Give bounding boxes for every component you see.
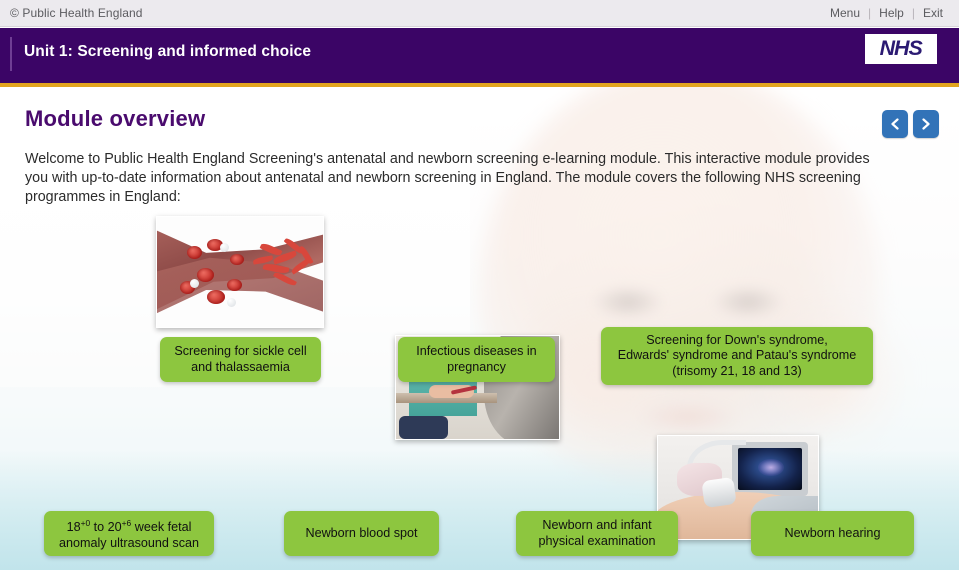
caption-line-1: 18+0 to 20+6 week fetal — [59, 516, 199, 536]
top-utility-bar: © Public Health England Menu | Help | Ex… — [0, 0, 959, 27]
nhs-logo: NHS — [865, 34, 937, 64]
caption-infectious-diseases[interactable]: Infectious diseases in pregnancy — [398, 337, 555, 382]
nhs-logo-text: NHS — [880, 37, 922, 61]
caption-line-1: Infectious diseases in — [416, 344, 536, 360]
help-button[interactable]: Help — [871, 6, 912, 20]
caption-newborn-hearing[interactable]: Newborn hearing — [751, 511, 914, 556]
e-learning-module-page: © Public Health England Menu | Help | Ex… — [0, 0, 959, 570]
previous-button[interactable] — [882, 110, 908, 138]
caption-newborn-blood-spot[interactable]: Newborn blood spot — [284, 511, 439, 556]
caption-line-2: anomaly ultrasound scan — [59, 536, 199, 552]
caption-line-2: Edwards' syndrome and Patau's syndrome — [618, 348, 857, 364]
chevron-right-icon — [920, 117, 932, 131]
page-title: Module overview — [25, 106, 205, 132]
superscript-plus-zero: +0 — [81, 518, 91, 528]
caption-fetal-anomaly-scan[interactable]: 18+0 to 20+6 week fetal anomaly ultrasou… — [44, 511, 214, 556]
unit-header-bar: Unit 1: Screening and informed choice — [0, 28, 959, 80]
chevron-left-icon — [889, 117, 901, 131]
utility-menu: Menu | Help | Exit — [822, 6, 951, 20]
superscript-plus-six: +6 — [122, 518, 132, 528]
caption-line-1: Screening for sickle cell — [174, 344, 306, 360]
unit-title: Unit 1: Screening and informed choice — [24, 43, 311, 61]
caption-line-2: pregnancy — [416, 360, 536, 376]
next-button[interactable] — [913, 110, 939, 138]
intro-paragraph: Welcome to Public Health England Screeni… — [25, 150, 885, 207]
caption-line-1: Newborn and infant — [539, 518, 656, 534]
caption-downs-edwards-patau[interactable]: Screening for Down's syndrome, Edwards' … — [601, 327, 873, 385]
sickle-cell-photo[interactable] — [156, 216, 324, 328]
caption-line-1: Newborn hearing — [785, 526, 881, 542]
caption-line-1: Newborn blood spot — [305, 526, 417, 542]
caption-line-2: and thalassaemia — [174, 360, 306, 376]
exit-button[interactable]: Exit — [915, 6, 951, 20]
caption-sickle-cell[interactable]: Screening for sickle cell and thalassaem… — [160, 337, 321, 382]
caption-line-2: physical examination — [539, 534, 656, 550]
menu-button[interactable]: Menu — [822, 6, 868, 20]
caption-newborn-infant-physical-examination[interactable]: Newborn and infant physical examination — [516, 511, 678, 556]
caption-line-1: Screening for Down's syndrome, — [618, 333, 857, 349]
caption-line-3: (trisomy 21, 18 and 13) — [618, 364, 857, 380]
copyright-text: © Public Health England — [10, 6, 143, 20]
navigation-buttons — [882, 110, 939, 138]
